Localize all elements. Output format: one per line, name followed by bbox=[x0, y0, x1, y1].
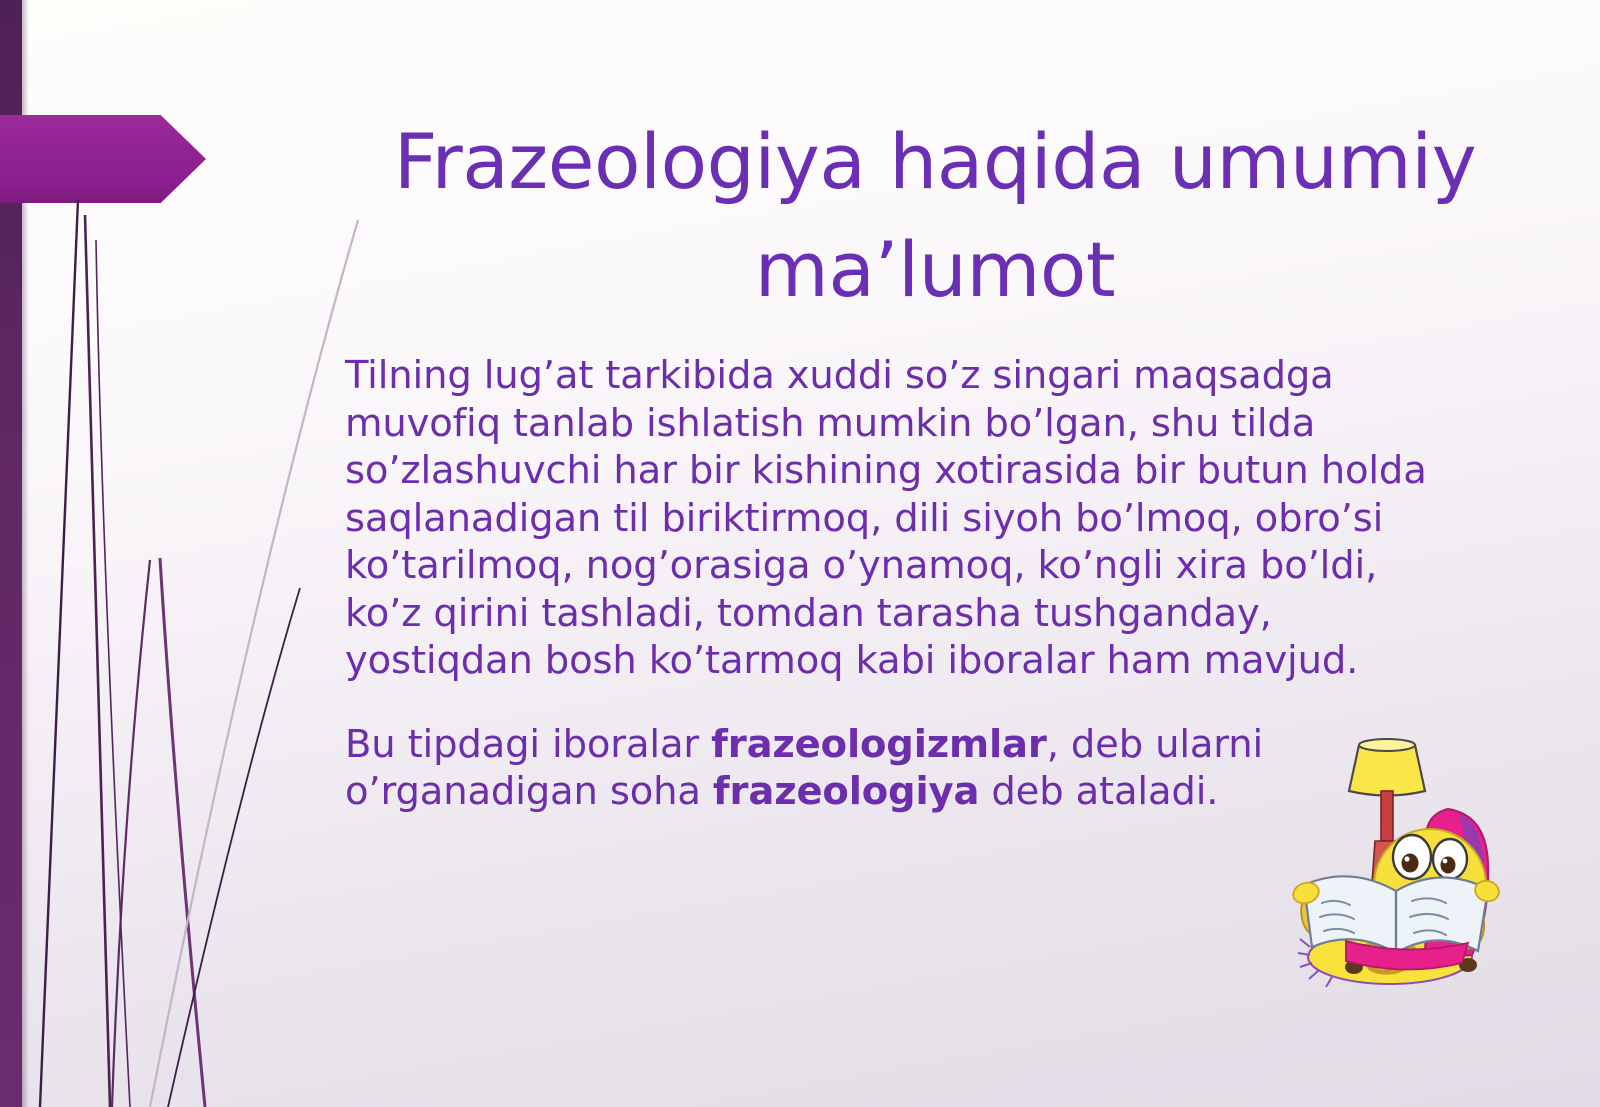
emphasis-term: frazeologizmlar bbox=[711, 722, 1047, 767]
text-run: Bu tipdagi iboralar bbox=[345, 722, 711, 767]
arrow-banner-shape bbox=[0, 115, 206, 203]
paragraph-1: Tilning lug’at tarkibida xuddi so’z sing… bbox=[345, 352, 1465, 685]
presentation-slide: Frazeologiya haqida umumiy ma’lumot Tiln… bbox=[0, 0, 1600, 1107]
smiley-reading-book-clipart bbox=[1262, 735, 1512, 990]
slide-title: Frazeologiya haqida umumiy ma’lumot bbox=[330, 108, 1540, 324]
emphasis-term: frazeologiya bbox=[713, 769, 979, 814]
text-run: deb ataladi. bbox=[979, 769, 1218, 814]
